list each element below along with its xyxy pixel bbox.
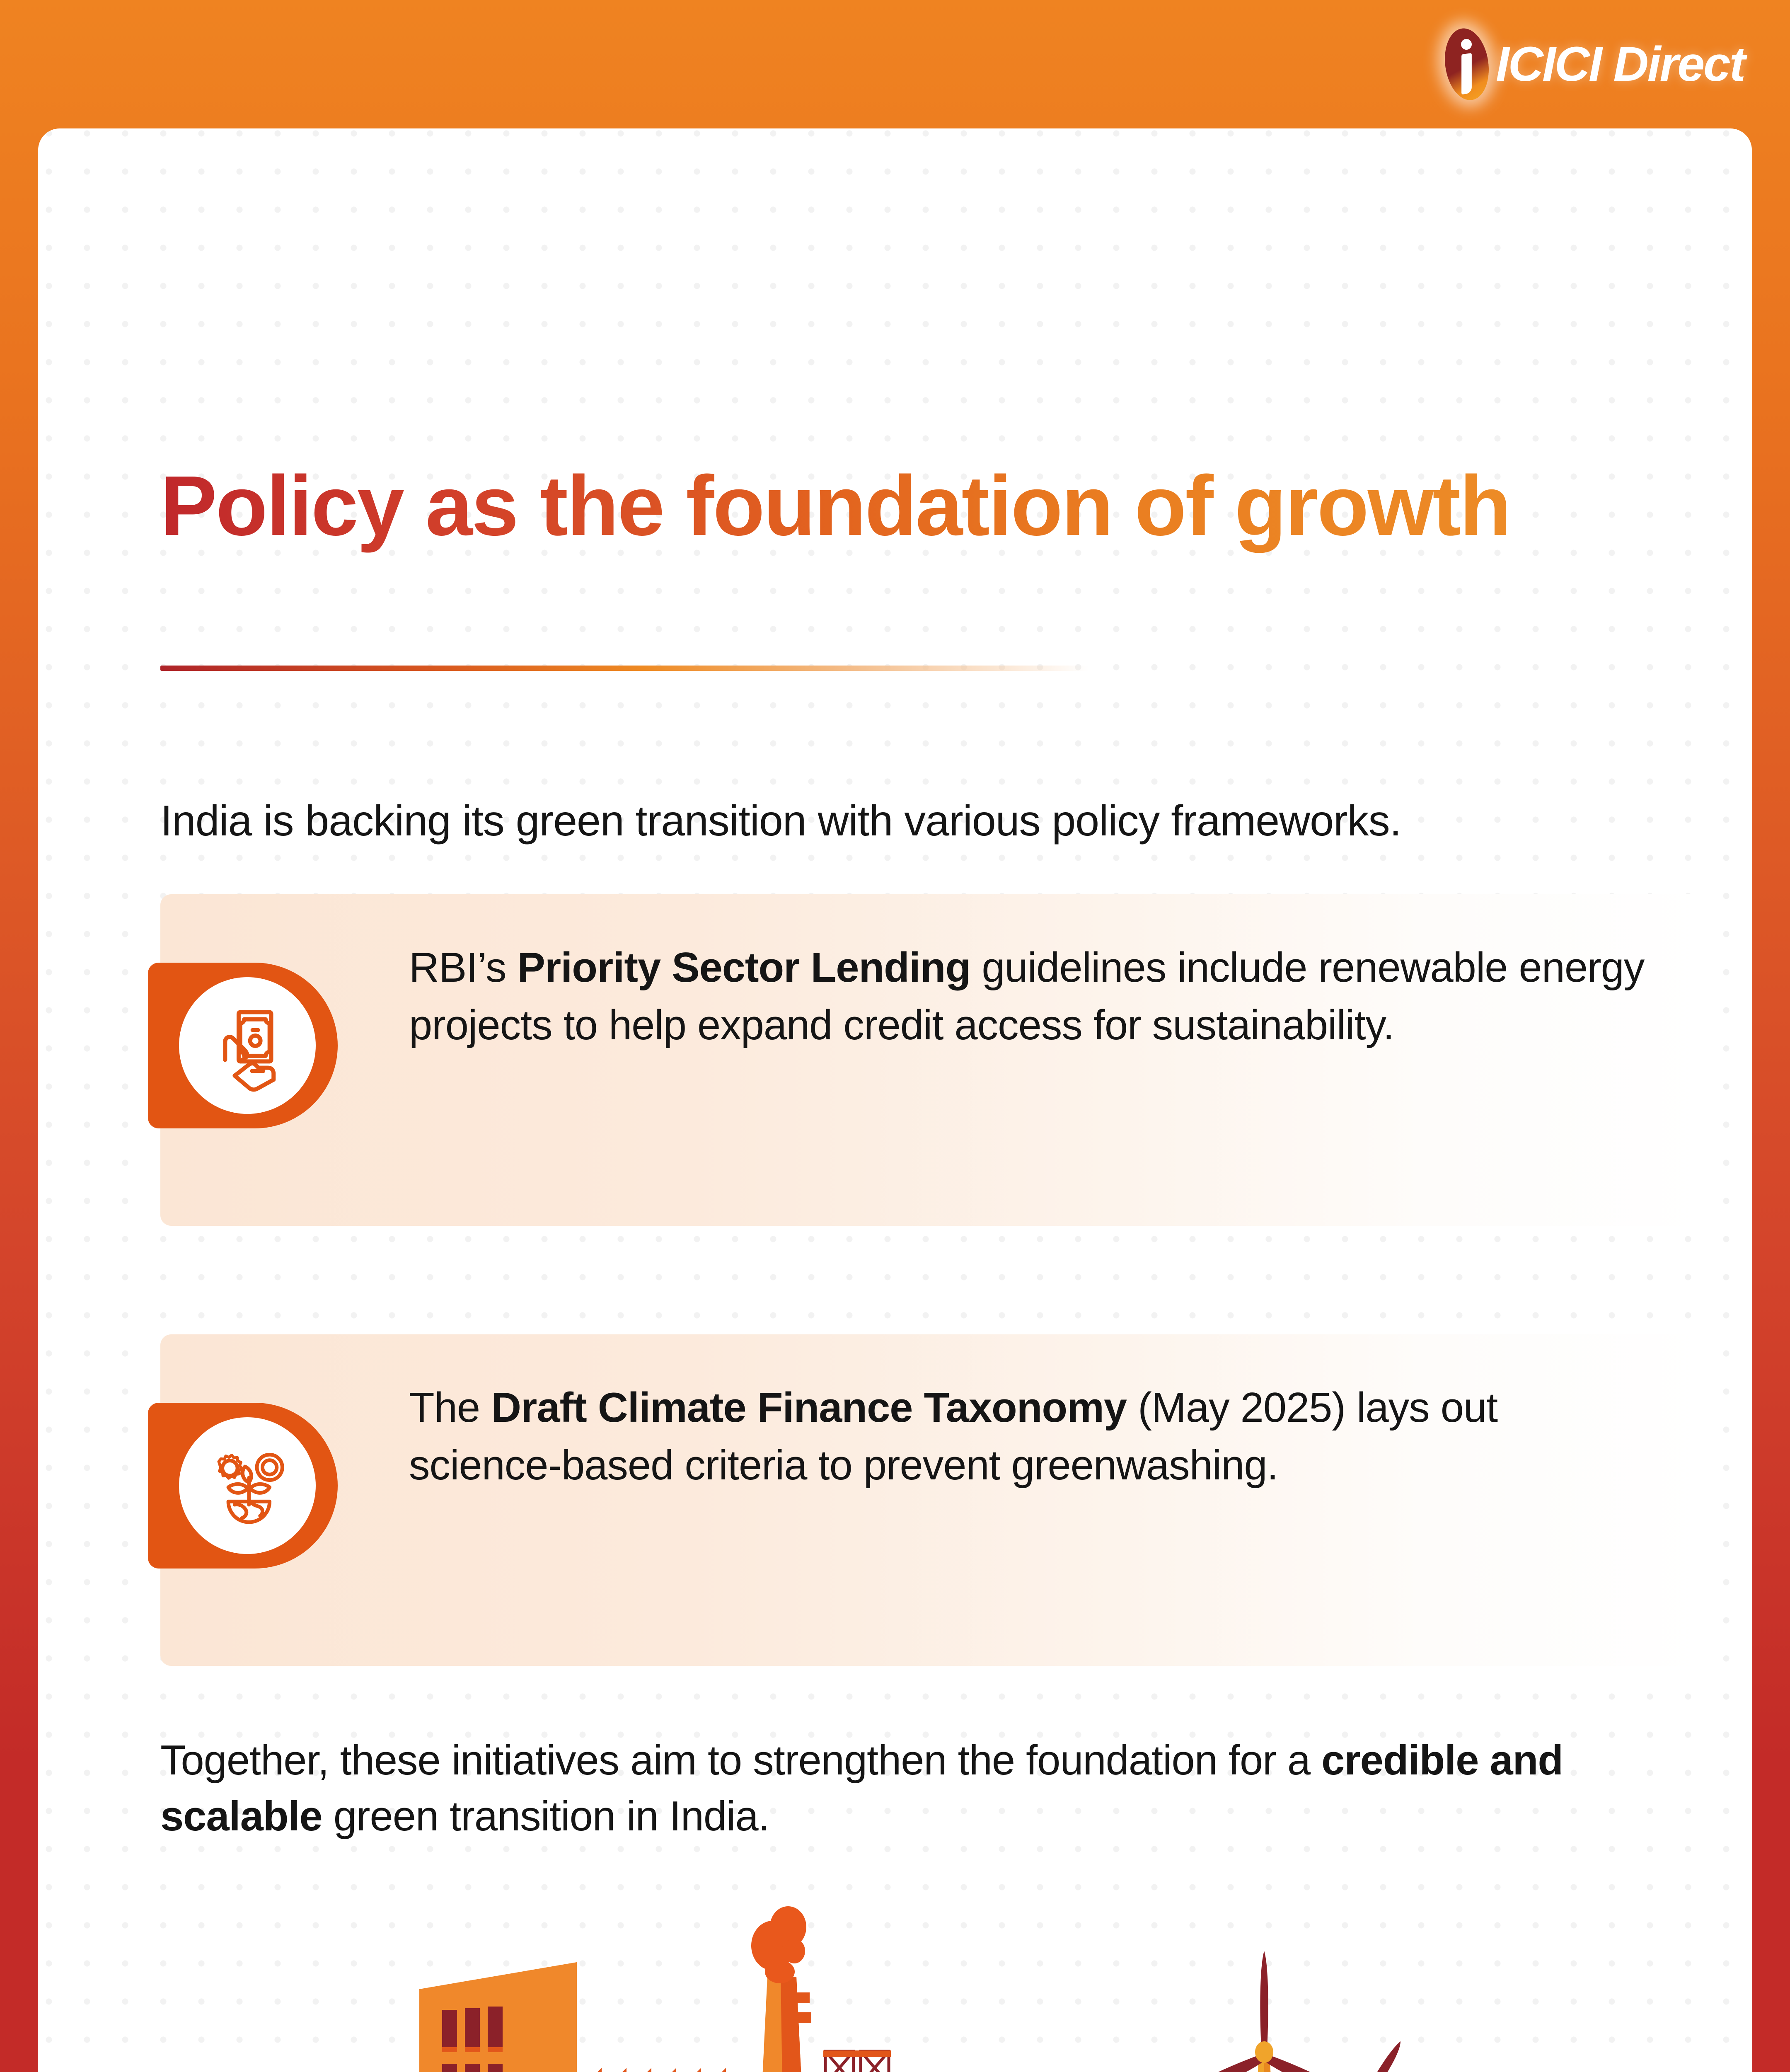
policy-card: RBI’s Priority Sector Lending guidelines… xyxy=(160,894,1704,1226)
closing-text: Together, these initiatives aim to stren… xyxy=(160,1733,1635,1845)
outer-frame: ICICI Direct Policy as the foundation of… xyxy=(0,0,1790,2072)
brand-logo-text: ICICI Direct xyxy=(1496,40,1744,89)
fossil-vs-renewable-seesaw-illustration xyxy=(38,1861,1752,2072)
card-text: RBI’s Priority Sector Lending guidelines… xyxy=(409,939,1660,1055)
right-renewable-group xyxy=(1030,1951,1465,2072)
title-divider xyxy=(160,666,1089,671)
page-title: Policy as the foundation of growth xyxy=(160,457,1528,555)
card-icon-badge xyxy=(148,1403,338,1569)
card-text: The Draft Climate Finance Taxonomy (May … xyxy=(409,1379,1660,1495)
logo-i-stem xyxy=(1461,53,1472,94)
card-icon-badge xyxy=(148,963,338,1128)
money-in-hand-icon xyxy=(179,977,316,1114)
policy-card: The Draft Climate Finance Taxonomy (May … xyxy=(160,1334,1704,1666)
intro-text: India is backing its green transition wi… xyxy=(160,793,1693,849)
left-industry-group xyxy=(419,1906,894,2072)
icici-i-mark-icon xyxy=(1442,25,1492,104)
brand-logo[interactable]: ICICI Direct xyxy=(1442,25,1744,104)
sustainable-growth-icon xyxy=(179,1417,316,1554)
content-card: Policy as the foundation of growth India… xyxy=(38,128,1752,2072)
